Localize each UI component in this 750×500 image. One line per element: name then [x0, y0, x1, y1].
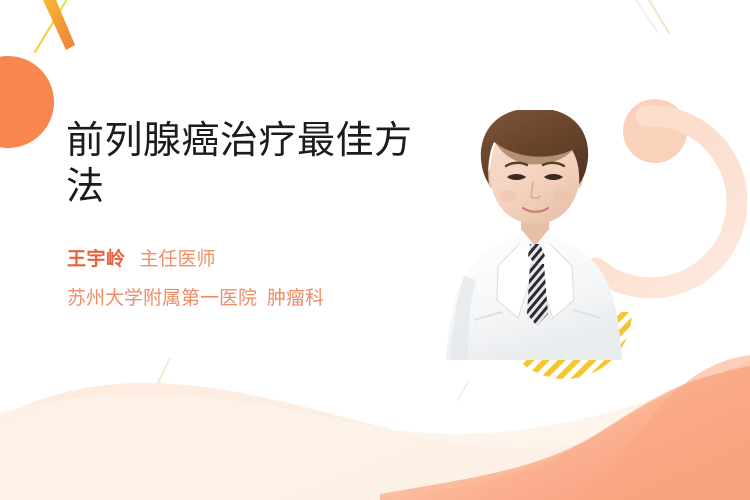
doctor-affiliation: 苏州大学附属第一医院肿瘤科	[67, 289, 324, 308]
doctor-byline: 王宇岭主任医师	[67, 250, 216, 269]
text-layer: 前列腺癌治疗最佳方法 王宇岭主任医师 苏州大学附属第一医院肿瘤科	[0, 0, 750, 500]
department-name: 肿瘤科	[267, 288, 324, 309]
presentation-slide: 前列腺癌治疗最佳方法 王宇岭主任医师 苏州大学附属第一医院肿瘤科	[0, 0, 750, 500]
doctor-rank: 主任医师	[140, 249, 216, 270]
hospital-name: 苏州大学附属第一医院	[67, 288, 257, 309]
page-title: 前列腺癌治疗最佳方法	[66, 118, 426, 211]
doctor-name: 王宇岭	[67, 249, 126, 270]
